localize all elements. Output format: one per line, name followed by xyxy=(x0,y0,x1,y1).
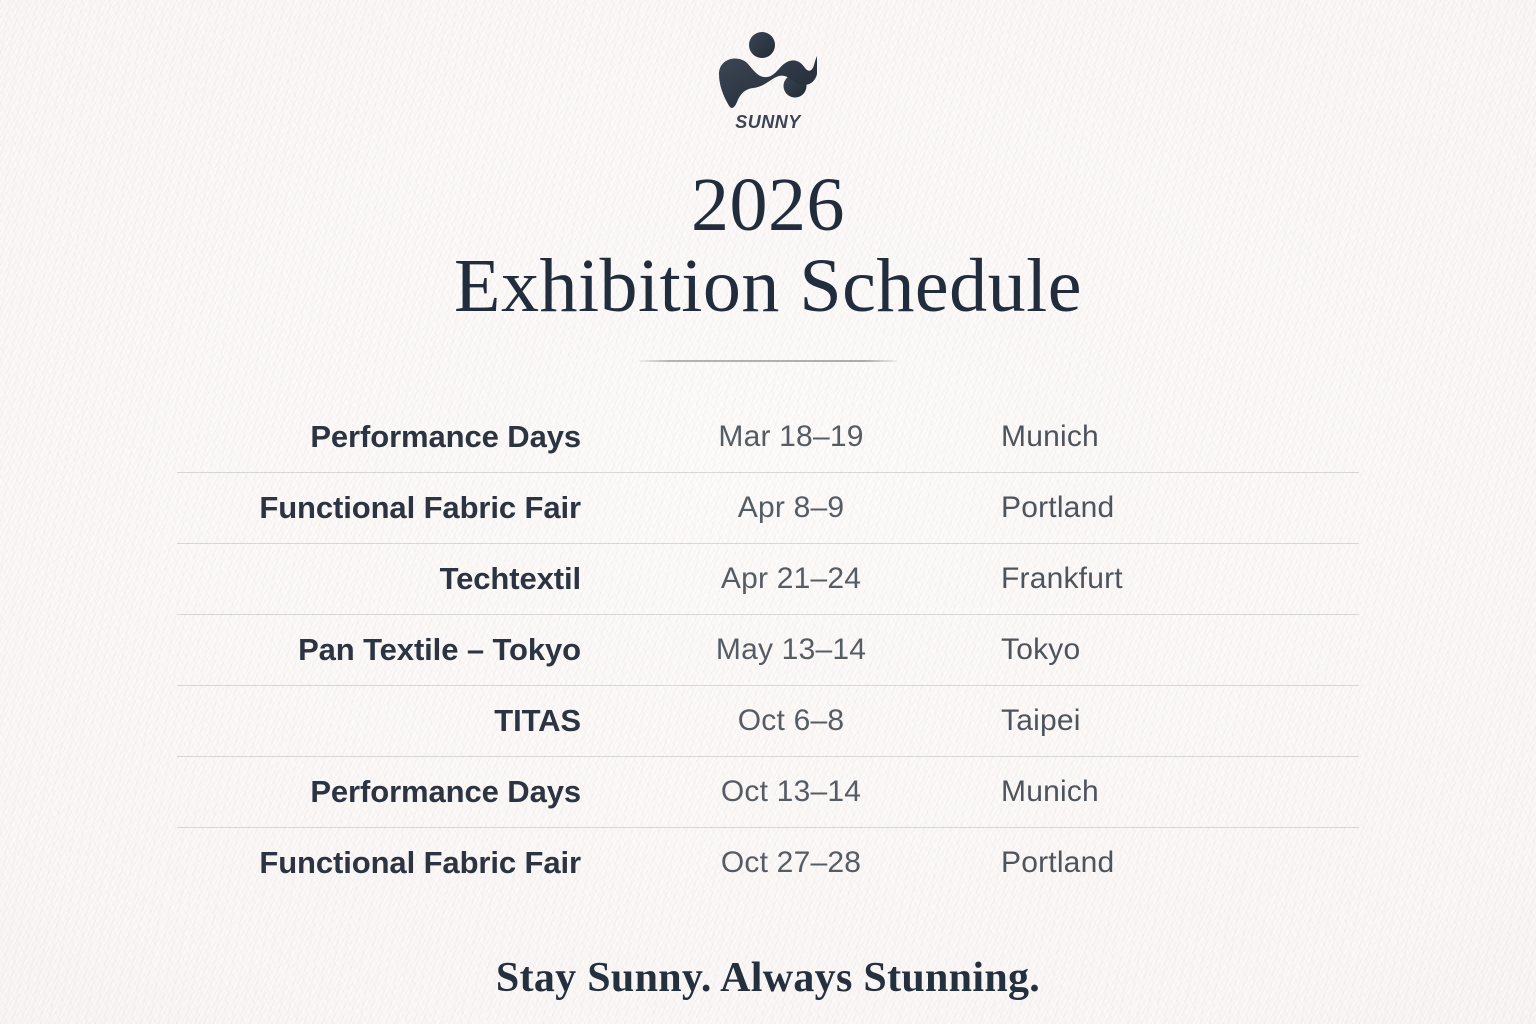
event-city: Taipei xyxy=(1001,685,1359,756)
event-city: Munich xyxy=(1001,402,1359,473)
table-row: Techtextil Apr 21–24 Frankfurt xyxy=(177,543,1359,614)
event-city: Portland xyxy=(1001,827,1359,898)
event-dates: Apr 8–9 xyxy=(581,472,1001,543)
event-name: Pan Textile – Tokyo xyxy=(177,614,581,685)
table-row: Performance Days Mar 18–19 Munich xyxy=(177,402,1359,473)
table-row: Functional Fabric Fair Oct 27–28 Portlan… xyxy=(177,827,1359,898)
event-name: Performance Days xyxy=(177,402,581,473)
event-city: Munich xyxy=(1001,756,1359,827)
page-title-year: 2026 xyxy=(691,168,845,242)
poster-content: Sunny 2026 Exhibition Schedule Performan… xyxy=(0,0,1536,1024)
brand-wordmark: Sunny xyxy=(735,106,801,132)
brand-tagline: Stay Sunny. Always Stunning. xyxy=(496,954,1040,1002)
page-title: Exhibition Schedule xyxy=(454,248,1082,326)
event-dates: Oct 27–28 xyxy=(581,827,1001,898)
event-dates: May 13–14 xyxy=(581,614,1001,685)
event-dates: Oct 13–14 xyxy=(581,756,1001,827)
event-name: TITAS xyxy=(177,685,581,756)
event-city: Frankfurt xyxy=(1001,543,1359,614)
event-name: Techtextil xyxy=(177,543,581,614)
event-name: Performance Days xyxy=(177,756,581,827)
table-row: TITAS Oct 6–8 Taipei xyxy=(177,685,1359,756)
event-dates: Oct 6–8 xyxy=(581,685,1001,756)
sunny-wave-logo-icon xyxy=(709,30,827,112)
event-name: Functional Fabric Fair xyxy=(177,472,581,543)
exhibition-schedule-poster: Sunny 2026 Exhibition Schedule Performan… xyxy=(0,0,1536,1024)
event-city: Tokyo xyxy=(1001,614,1359,685)
exhibition-schedule-table: Performance Days Mar 18–19 Munich Functi… xyxy=(177,402,1359,898)
table-row: Performance Days Oct 13–14 Munich xyxy=(177,756,1359,827)
table-row: Functional Fabric Fair Apr 8–9 Portland xyxy=(177,472,1359,543)
event-dates: Mar 18–19 xyxy=(581,402,1001,473)
schedule-body: Performance Days Mar 18–19 Munich Functi… xyxy=(177,402,1359,898)
event-name: Functional Fabric Fair xyxy=(177,827,581,898)
event-dates: Apr 21–24 xyxy=(581,543,1001,614)
event-city: Portland xyxy=(1001,472,1359,543)
table-row: Pan Textile – Tokyo May 13–14 Tokyo xyxy=(177,614,1359,685)
brand-logo: Sunny xyxy=(709,30,827,132)
title-divider xyxy=(639,360,897,362)
